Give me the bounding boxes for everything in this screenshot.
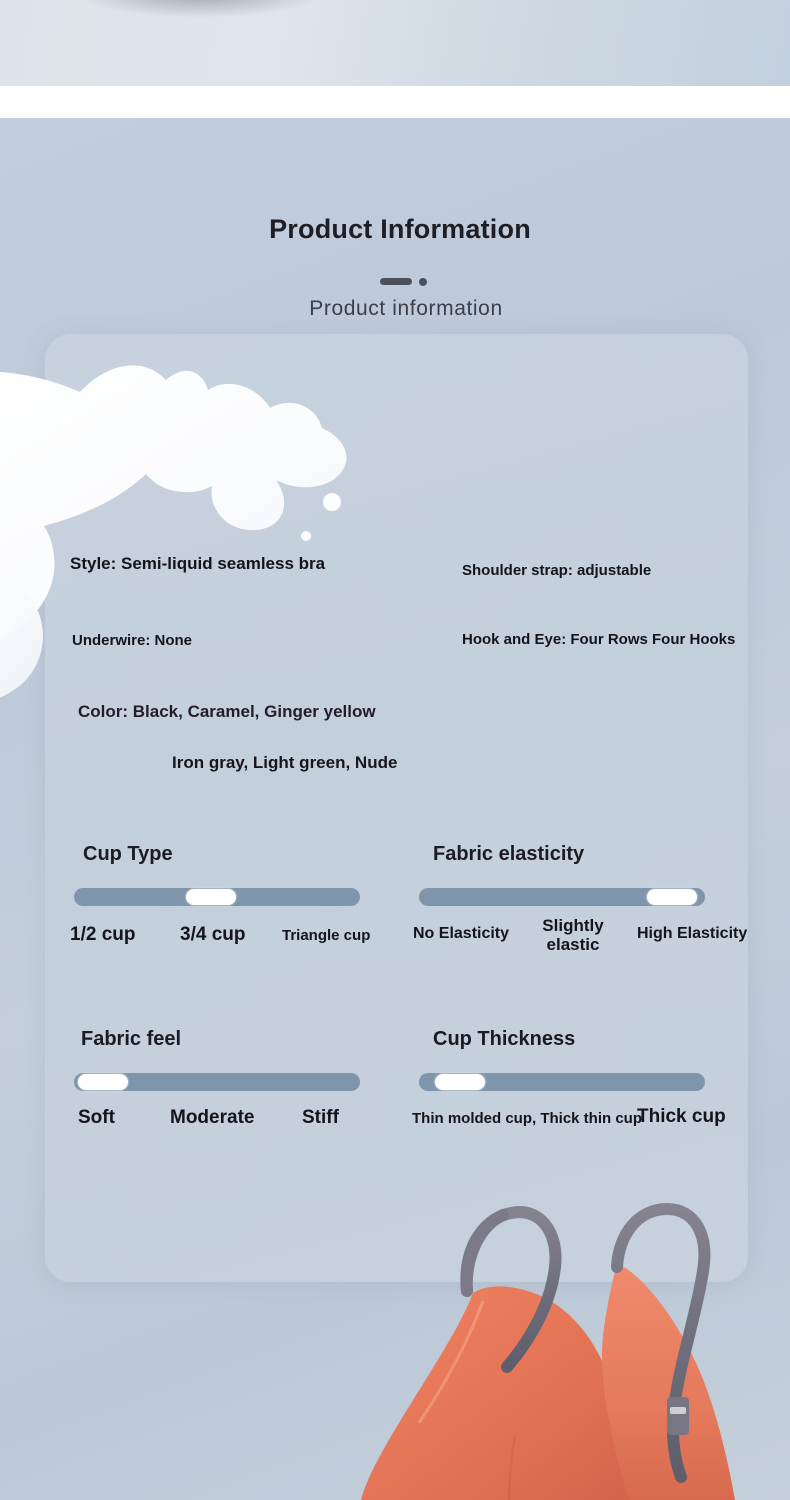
slider-tick-fabric-elasticity-2[interactable]: High Elasticity [637,925,747,943]
spec-color-line-1: Color: Black, Caramel, Ginger yellow [78,702,376,722]
page-title: Product Information [0,214,790,245]
slider-thumb-cup-thickness[interactable] [435,1074,485,1090]
dash-dot-divider-icon [0,273,790,283]
slider-track-cup-thickness[interactable] [419,1073,705,1091]
page-subtitle: Product information [0,297,790,321]
slider-ticks-fabric-elasticity: No Elasticity Slightly elastic High Elas… [419,918,719,962]
section-gap-divider [0,86,790,118]
slider-group-fabric-elasticity: Fabric elasticity No Elasticity Slightly… [419,843,719,962]
product-information-page: Product Information Product information … [0,0,790,1500]
slider-tick-cup-type-1[interactable]: 3/4 cup [180,924,245,946]
slider-ticks-fabric-feel: Soft Moderate Stiff [74,1103,374,1147]
slider-tick-fabric-feel-0[interactable]: Soft [78,1107,115,1129]
slider-tick-cup-type-0[interactable]: 1/2 cup [70,924,135,946]
spec-style: Style: Semi-liquid seamless bra [70,554,325,574]
slider-tick-fabric-elasticity-0[interactable]: No Elasticity [413,925,509,943]
slider-group-fabric-feel: Fabric feel Soft Moderate Stiff [74,1028,374,1147]
slider-ticks-cup-thickness: Thin molded cup, Thick thin cup Thick cu… [419,1103,719,1147]
spec-color-line-2: Iron gray, Light green, Nude [172,753,397,773]
slider-thumb-cup-type[interactable] [186,889,236,905]
slider-title-cup-type: Cup Type [74,843,374,866]
section-heading: Product Information Product information [0,214,790,321]
slider-thumb-fabric-elasticity[interactable] [647,889,697,905]
slider-tick-cup-thickness-0[interactable]: Thin molded cup, Thick thin cup [412,1110,642,1127]
slider-group-cup-thickness: Cup Thickness Thin molded cup, Thick thi… [419,1028,719,1147]
slider-ticks-cup-type: 1/2 cup 3/4 cup Triangle cup [74,918,374,962]
slider-tick-fabric-elasticity-1[interactable]: Slightly elastic [532,916,614,954]
spec-shoulder-strap: Shoulder strap: adjustable [462,562,651,579]
spec-hook-and-eye: Hook and Eye: Four Rows Four Hooks [462,631,735,648]
spec-underwire: Underwire: None [72,632,192,649]
slider-track-fabric-feel[interactable] [74,1073,360,1091]
slider-track-fabric-elasticity[interactable] [419,888,705,906]
divider-dot-icon [419,278,427,286]
top-banner-bleed [0,0,790,86]
slider-track-cup-type[interactable] [74,888,360,906]
slider-title-fabric-feel: Fabric feel [74,1028,374,1051]
slider-tick-cup-thickness-1[interactable]: Thick cup [637,1106,726,1128]
slider-tick-fabric-feel-1[interactable]: Moderate [170,1107,254,1129]
slider-tick-fabric-feel-2[interactable]: Stiff [302,1107,339,1129]
slider-thumb-fabric-feel[interactable] [78,1074,128,1090]
slider-group-cup-type: Cup Type 1/2 cup 3/4 cup Triangle cup [74,843,374,962]
slider-title-fabric-elasticity: Fabric elasticity [419,843,719,866]
divider-dash-icon [380,278,412,285]
slider-tick-cup-type-2[interactable]: Triangle cup [282,927,370,944]
slider-title-cup-thickness: Cup Thickness [419,1028,719,1051]
